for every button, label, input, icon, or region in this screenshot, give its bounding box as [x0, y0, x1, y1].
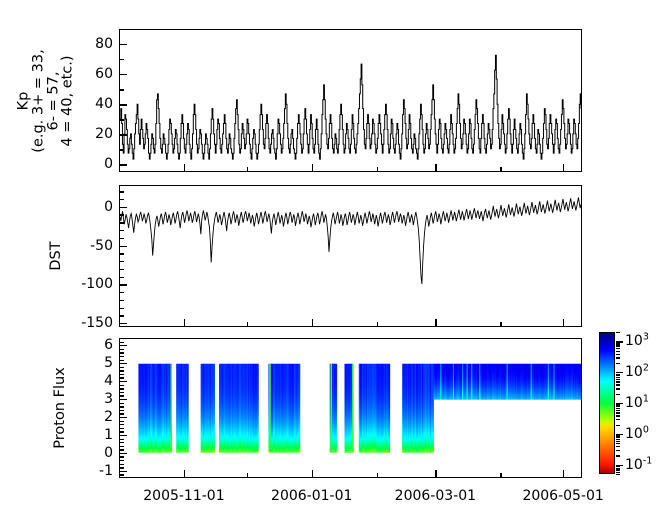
kp-y-minor-tick — [120, 149, 124, 150]
kp-y-tick-label: 20 — [95, 126, 113, 142]
dst-y-tick-label: -100 — [81, 276, 113, 292]
dst-y-tick-label: -50 — [90, 238, 113, 254]
kp-x-major-tick — [184, 164, 185, 171]
kp-y-tick-label: 0 — [104, 156, 113, 172]
kp-index-panel — [119, 29, 582, 172]
kp-x-minor-tick — [377, 167, 378, 171]
figure-root: 020406080 Kp(e.g. 3+ = 33,6- = 57,4 = 40… — [0, 0, 665, 523]
kp-axis-title: Kp(e.g. 3+ = 33,6- = 57,4 = 40, etc.) — [16, 31, 75, 171]
dst-series-plot — [120, 186, 581, 326]
dst-x-minor-tick — [119, 322, 120, 326]
dst-y-minor-tick — [120, 261, 124, 262]
kp-y-minor-tick — [120, 29, 124, 30]
dst-y-minor-tick — [120, 191, 124, 192]
kp-y-major-tick — [120, 104, 127, 105]
dst-x-major-tick — [435, 319, 436, 326]
kp-axis-title-line: 4 = 40, etc.) — [61, 31, 76, 171]
kp-axis-title-line: Kp — [16, 31, 31, 171]
kp-y-major-tick — [120, 134, 127, 135]
dst-y-major-tick — [120, 284, 127, 285]
dst-y-tick-label: 0 — [104, 199, 113, 215]
kp-y-minor-tick — [120, 59, 124, 60]
kp-x-major-tick — [435, 164, 436, 171]
dst-y-minor-tick — [120, 199, 124, 200]
dst-axis-title: DST — [48, 241, 64, 270]
kp-x-major-tick — [312, 164, 313, 171]
series-path — [120, 197, 581, 283]
kp-y-tick-label: 80 — [95, 36, 113, 52]
kp-x-minor-tick — [247, 167, 248, 171]
dst-y-tick-label: -150 — [81, 315, 113, 331]
dst-y-minor-tick — [120, 277, 124, 278]
kp-y-major-tick — [120, 74, 127, 75]
dst-y-major-tick — [120, 207, 127, 208]
kp-axis-title-line: (e.g. 3+ = 33, — [31, 31, 46, 171]
proton-flux-spectrogram-panel — [119, 338, 582, 478]
kp-y-major-tick — [120, 44, 127, 45]
dst-y-minor-tick — [120, 230, 124, 231]
kp-y-tick-label: 40 — [95, 96, 113, 112]
kp-x-major-tick — [563, 164, 564, 171]
kp-y-major-tick — [120, 164, 127, 165]
dst-index-panel — [119, 185, 582, 327]
dst-y-minor-tick — [120, 214, 124, 215]
kp-y-minor-tick — [120, 89, 124, 90]
dst-y-minor-tick — [120, 308, 124, 309]
dst-x-minor-tick — [247, 322, 248, 326]
dst-x-major-tick — [184, 319, 185, 326]
kp-y-tick-label: 60 — [95, 66, 113, 82]
dst-y-minor-tick — [120, 253, 124, 254]
dst-x-minor-tick — [500, 322, 501, 326]
spectrogram-cell — [213, 451, 215, 453]
dst-y-minor-tick — [120, 315, 124, 316]
dst-y-minor-tick — [120, 292, 124, 293]
dst-x-minor-tick — [377, 322, 378, 326]
proton-flux-heatmap — [120, 339, 581, 477]
dst-x-major-tick — [563, 319, 564, 326]
spectrogram-cell — [257, 451, 259, 453]
kp-y-minor-tick — [120, 119, 124, 120]
kp-axis-title-line: 6- = 57, — [46, 31, 61, 171]
dst-y-minor-tick — [120, 300, 124, 301]
dst-y-major-tick — [120, 323, 127, 324]
dst-y-minor-tick — [120, 238, 124, 239]
dst-y-minor-tick — [120, 269, 124, 270]
spectrogram-cell — [187, 451, 189, 453]
dst-y-major-tick — [120, 246, 127, 247]
dst-y-minor-tick — [120, 222, 124, 223]
kp-x-minor-tick — [500, 167, 501, 171]
series-path — [120, 55, 581, 159]
dst-x-major-tick — [312, 319, 313, 326]
kp-x-minor-tick — [119, 167, 120, 171]
kp-series-plot — [120, 30, 581, 171]
